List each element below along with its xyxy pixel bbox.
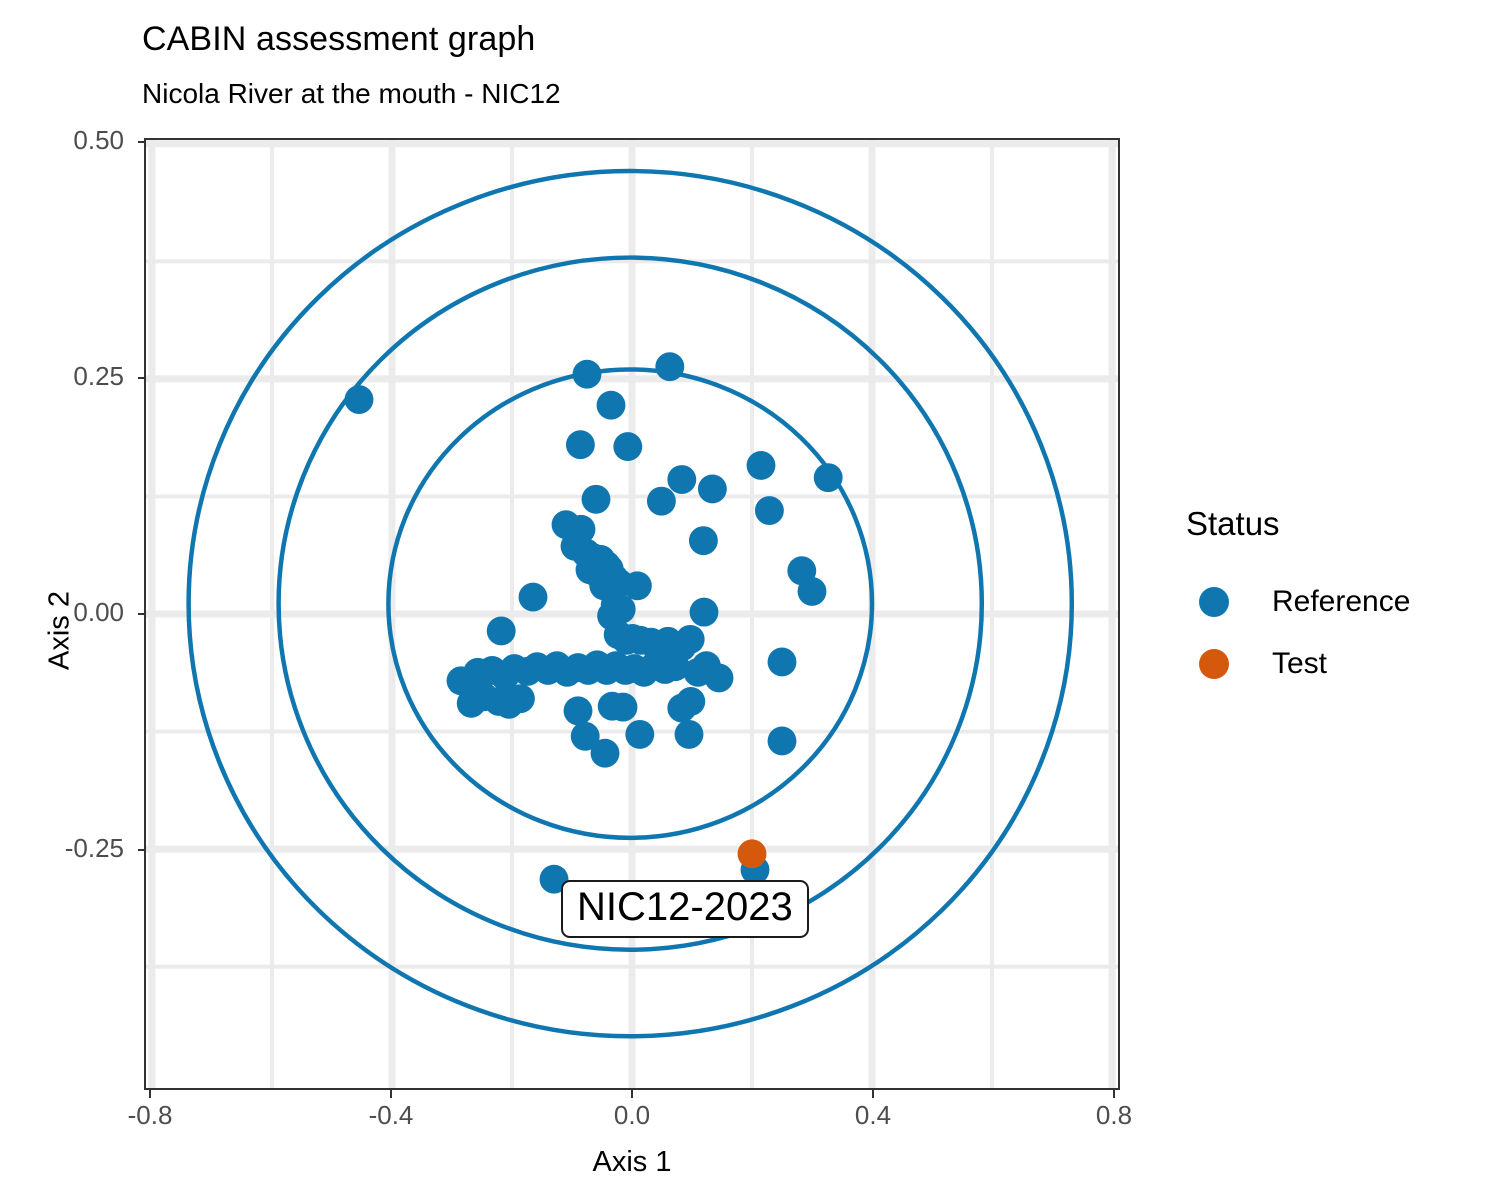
data-point-reference[interactable] <box>506 684 535 713</box>
data-point-reference[interactable] <box>814 463 843 492</box>
point-annotation-label[interactable]: NIC12-2023 <box>561 880 809 938</box>
x-axis-tick-label: 0.4 <box>855 1100 891 1131</box>
data-point-reference[interactable] <box>519 583 548 612</box>
data-point-reference[interactable] <box>487 616 516 645</box>
data-point-reference[interactable] <box>690 598 719 627</box>
legend-item-test[interactable]: Test <box>1186 633 1486 695</box>
test-dot <box>1186 636 1242 692</box>
legend-item-label: Test <box>1272 647 1327 681</box>
legend-item-label: Reference <box>1272 585 1410 619</box>
plot-panel[interactable] <box>144 138 1120 1090</box>
data-point-reference[interactable] <box>768 727 797 756</box>
y-axis-tick-label: 0.50 <box>14 125 124 156</box>
data-point-reference[interactable] <box>675 720 704 749</box>
data-point-reference[interactable] <box>613 432 642 461</box>
data-point-reference[interactable] <box>623 571 652 600</box>
y-axis-tick-label: 0.00 <box>14 597 124 628</box>
data-points <box>345 352 843 893</box>
data-point-reference[interactable] <box>345 385 374 414</box>
scatter-plot-canvas <box>146 140 1118 1088</box>
data-point-reference[interactable] <box>705 664 734 693</box>
data-point-reference[interactable] <box>655 352 684 381</box>
data-point-reference[interactable] <box>564 696 593 725</box>
data-point-reference[interactable] <box>689 526 718 555</box>
legend-swatch <box>1199 649 1229 679</box>
y-axis-tick-label: 0.25 <box>14 361 124 392</box>
data-point-reference[interactable] <box>582 485 611 514</box>
x-axis-title: Axis 1 <box>0 1146 1264 1179</box>
x-axis-tick-label: -0.8 <box>128 1100 173 1131</box>
data-point-reference[interactable] <box>625 720 654 749</box>
data-point-reference[interactable] <box>573 360 602 389</box>
x-axis-tick-label: 0.0 <box>614 1100 650 1131</box>
data-point-reference[interactable] <box>566 430 595 459</box>
legend: Status ReferenceTest <box>1186 505 1486 695</box>
data-point-reference[interactable] <box>768 648 797 677</box>
x-axis-tick-label: 0.8 <box>1096 1100 1132 1131</box>
data-point-reference[interactable] <box>597 391 626 420</box>
legend-swatch <box>1199 587 1229 617</box>
y-axis-tick-label: -0.25 <box>14 833 124 864</box>
legend-item-reference[interactable]: Reference <box>1186 571 1486 633</box>
legend-title: Status <box>1186 505 1486 543</box>
data-point-reference[interactable] <box>698 474 727 503</box>
data-point-reference[interactable] <box>667 465 696 494</box>
y-axis-title: Axis 2 <box>44 511 77 751</box>
x-axis-tick-label: -0.4 <box>369 1100 414 1131</box>
x-axis-tick-mark <box>1113 1090 1115 1098</box>
y-axis-group: Axis 2 0.500.250.00-0.25 <box>0 0 144 1200</box>
data-point-reference[interactable] <box>755 496 784 525</box>
data-point-test[interactable] <box>738 839 767 868</box>
chart-subtitle: Nicola River at the mouth - NIC12 <box>142 78 561 110</box>
x-axis-tick-mark <box>390 1090 392 1098</box>
data-point-reference[interactable] <box>798 577 827 606</box>
data-point-reference[interactable] <box>676 625 705 654</box>
x-axis-tick-mark <box>631 1090 633 1098</box>
data-point-reference[interactable] <box>591 739 620 768</box>
x-axis-tick-mark <box>149 1090 151 1098</box>
data-point-reference[interactable] <box>747 451 776 480</box>
reference-dot <box>1186 574 1242 630</box>
chart-title: CABIN assessment graph <box>142 20 535 59</box>
x-axis-tick-mark <box>872 1090 874 1098</box>
data-point-reference[interactable] <box>609 693 638 722</box>
data-point-reference[interactable] <box>676 687 705 716</box>
data-point-reference[interactable] <box>647 487 676 516</box>
